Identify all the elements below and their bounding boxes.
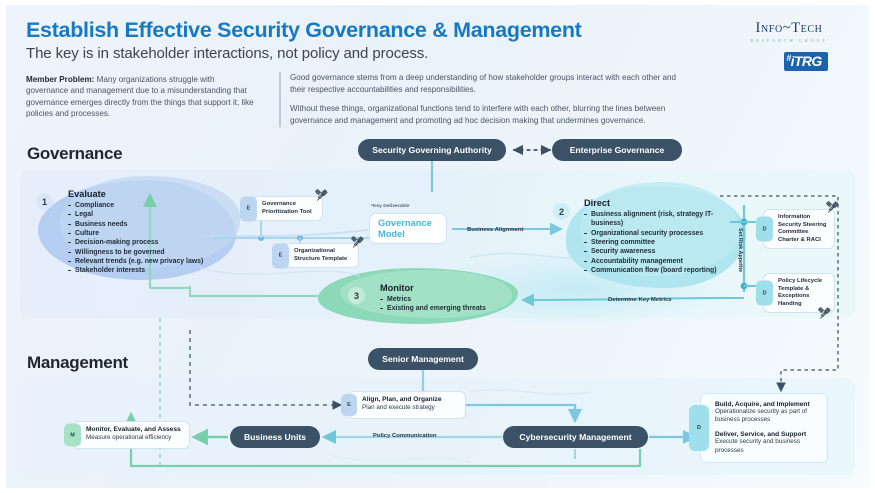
evaluate-list: Compliance Legal Business needs Culture … <box>68 201 228 276</box>
evaluate-title: Evaluate <box>68 189 228 199</box>
itrg-badge: #iTRG <box>784 52 827 71</box>
member-problem-text: Member Problem: Many organizations strug… <box>26 74 258 120</box>
tool-card-organizational-structure-template[interactable]: E Organizational Structure Template <box>279 243 359 268</box>
tool-tag: E <box>272 243 289 268</box>
card-subtitle-build: Operationalize security as part of busin… <box>715 408 821 424</box>
card-monitor-evaluate-assess[interactable]: M Monitor, Evaluate, and Assess Measure … <box>72 421 190 449</box>
header-paragraph-1: Good governance stems from a deep unders… <box>290 72 694 95</box>
tool-label: Policy Lifecycle Template & Exceptions H… <box>778 278 829 308</box>
tool-label: Governance Prioritization Tool <box>262 201 317 216</box>
monitor-title: Monitor <box>380 283 530 293</box>
page-edge-top <box>0 0 875 5</box>
tool-label: Organizational Structure Template <box>294 248 353 263</box>
infographic-page: Establish Effective Security Governance … <box>0 0 875 493</box>
list-item: Metrics <box>380 295 530 304</box>
list-item: Business needs <box>68 220 228 229</box>
direct-list: Business alignment (risk, strategy IT-bu… <box>584 210 734 275</box>
logo-tagline: RESEARCH GROUP <box>725 38 853 43</box>
tools-icon <box>817 306 832 321</box>
flow-label-policy-communication: Policy Communication <box>373 433 437 439</box>
list-item: Legal <box>68 210 228 219</box>
step-number-3: 3 <box>348 287 365 304</box>
list-item: Accountability management <box>584 257 734 266</box>
tools-icon <box>350 235 365 250</box>
card-tag: E <box>341 394 357 416</box>
deliver-group: Deliver, Service, and Support Execute se… <box>715 431 821 454</box>
list-item: Steering committee <box>584 238 734 247</box>
tool-card-governance-prioritization-tool[interactable]: E Governance Prioritization Tool <box>247 196 323 221</box>
tool-card-iss-committee-charter[interactable]: D Information Security Steering Committe… <box>763 209 835 249</box>
page-edge-bottom <box>0 488 875 493</box>
card-subtitle: Measure operational efficiency <box>86 434 185 441</box>
tool-tag: E <box>240 196 257 221</box>
node-business-units[interactable]: Business Units <box>230 426 320 448</box>
list-item: Willingness to be governed <box>68 248 228 257</box>
member-problem-label: Member Problem: <box>26 75 94 84</box>
list-item: Security awareness <box>584 247 734 256</box>
list-item: Stakeholder interests <box>68 266 228 275</box>
tools-icon <box>314 188 329 203</box>
list-item: Existing and emerging threats <box>380 304 530 313</box>
key-deliverable-label: *Key Deliverable <box>371 204 409 209</box>
header-description: Good governance stems from a deep unders… <box>279 72 694 127</box>
page-title: Establish Effective Security Governance … <box>26 18 582 43</box>
list-item: Culture <box>68 229 228 238</box>
tools-icon <box>825 200 840 215</box>
list-item: Compliance <box>68 201 228 210</box>
page-edge-left <box>0 0 6 493</box>
node-security-governing-authority[interactable]: Security Governing Authority <box>358 139 506 161</box>
governance-heading: Governance <box>27 144 122 164</box>
step-number-2: 2 <box>553 203 570 220</box>
list-item: Decision-making process <box>68 238 228 247</box>
list-item: Communication flow (board reporting) <box>584 266 734 275</box>
card-tag: M <box>64 424 81 447</box>
tool-card-policy-lifecycle-template[interactable]: D Policy Lifecycle Template & Exceptions… <box>763 273 835 313</box>
tool-tag: D <box>756 217 773 242</box>
list-item: Business alignment (risk, strategy IT-bu… <box>584 210 734 229</box>
flow-label-determine-key-metrics: Determine Key Metrics <box>608 297 672 303</box>
card-subtitle: Plan and execute strategy <box>362 404 461 411</box>
list-item: Organizational security processes <box>584 229 734 238</box>
tool-label: Information Security Steering Committee … <box>778 214 829 244</box>
node-enterprise-governance[interactable]: Enterprise Governance <box>552 139 682 161</box>
node-cybersecurity-management[interactable]: Cybersecurity Management <box>503 426 648 448</box>
company-logo: Info~Tech RESEARCH GROUP #iTRG <box>725 20 853 71</box>
card-title-deliver: Deliver, Service, and Support <box>715 431 821 438</box>
governance-model-label: Governance Model <box>378 218 446 239</box>
card-tag: D <box>689 405 709 451</box>
itrg-text: iTRG <box>791 53 822 69</box>
page-subtitle: The key is in stakeholder interactions, … <box>26 45 428 62</box>
tool-tag: D <box>756 281 773 306</box>
logo-wordmark: Info~Tech <box>725 20 853 37</box>
header-paragraph-2: Without these things, organizational fun… <box>290 103 694 126</box>
flow-label-set-risk-appetite: Set Risk Appetite <box>737 228 743 272</box>
direct-block: Direct Business alignment (risk, strateg… <box>584 198 734 275</box>
monitor-list: Metrics Existing and emerging threats <box>380 295 530 314</box>
card-title: Align, Plan, and Organize <box>362 396 461 403</box>
card-align-plan-organize[interactable]: E Align, Plan, and Organize Plan and exe… <box>348 391 466 419</box>
direct-title: Direct <box>584 198 734 208</box>
flow-label-business-alignment: Business Alignment <box>467 227 523 233</box>
step-number-1: 1 <box>36 193 53 210</box>
management-heading: Management <box>27 353 128 373</box>
page-edge-right <box>869 0 875 493</box>
card-subtitle-deliver: Execute security and business processes <box>715 438 821 454</box>
governance-model-card[interactable]: Governance Model <box>369 213 447 244</box>
node-senior-management[interactable]: Senior Management <box>368 348 478 370</box>
card-title-build: Build, Acquire, and Implement <box>715 401 821 408</box>
evaluate-block: Evaluate Compliance Legal Business needs… <box>68 189 228 276</box>
list-item: Relevant trends (e.g. new privacy laws) <box>68 257 228 266</box>
card-build-deliver[interactable]: D Build, Acquire, and Implement Operatio… <box>700 393 828 463</box>
card-title: Monitor, Evaluate, and Assess <box>86 426 185 433</box>
monitor-block: Monitor Metrics Existing and emerging th… <box>380 283 530 314</box>
